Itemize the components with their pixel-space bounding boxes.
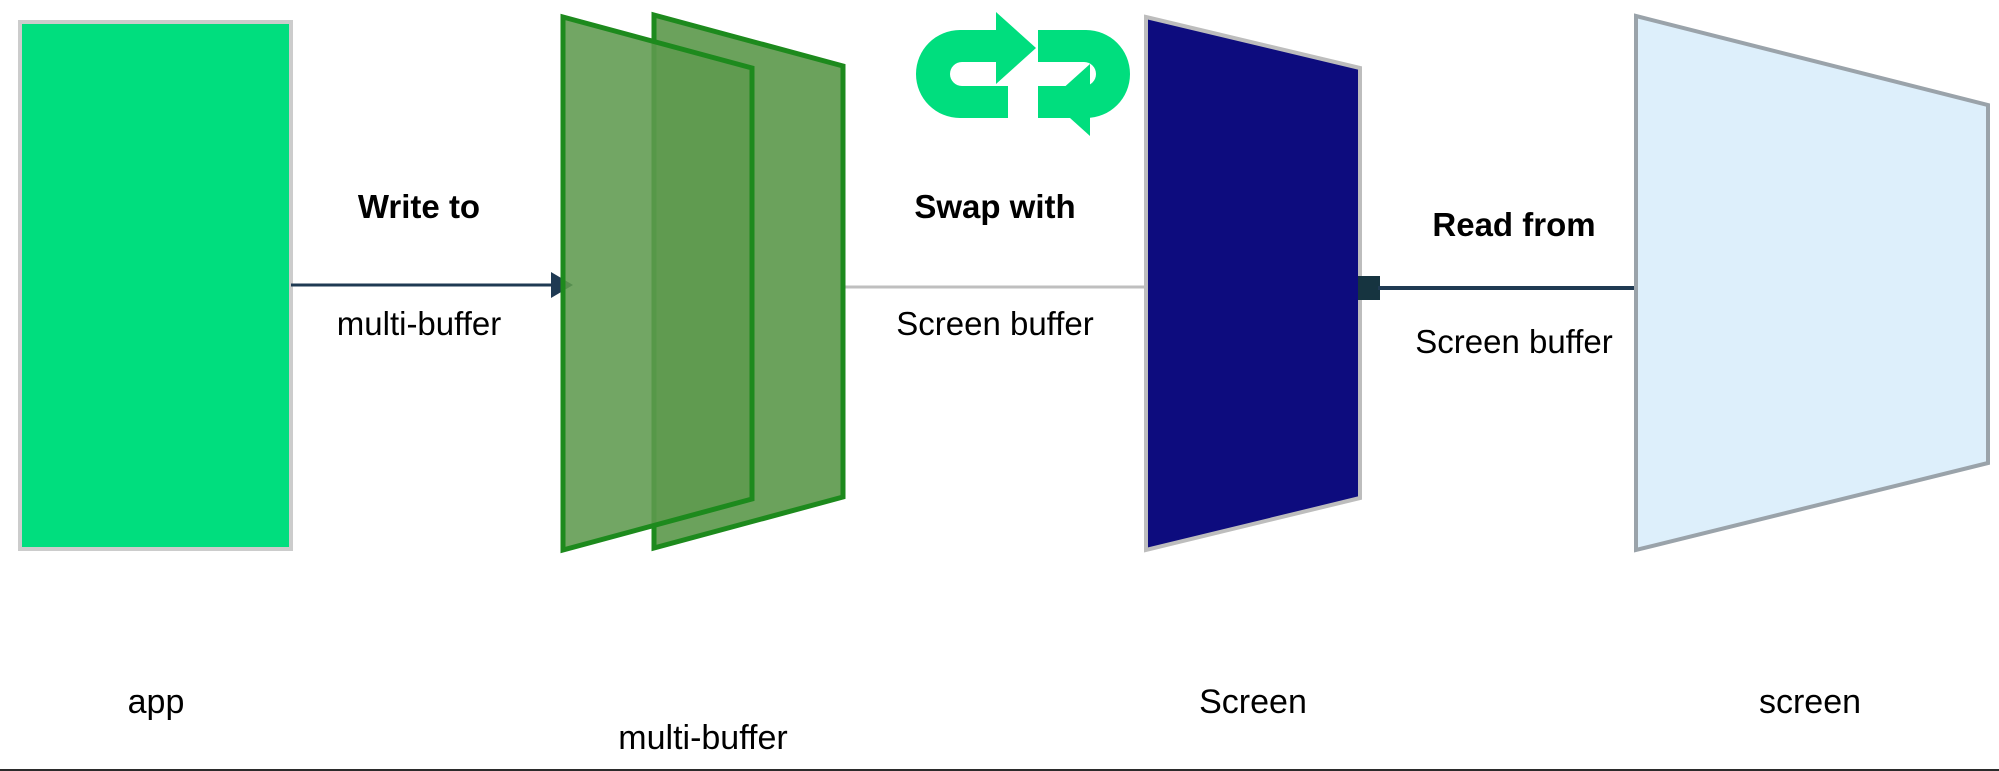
write-edge-label: Write to multi-buffer	[269, 110, 569, 422]
screen-buffer-node-label: Screen buffer (memory)	[1133, 602, 1373, 771]
multi-buffer-node-label-line1: multi-buffer	[543, 718, 863, 758]
write-edge-label-plain: multi-buffer	[269, 305, 569, 344]
screen-buffer-node-shape[interactable]	[1146, 17, 1360, 550]
app-node-label-text: app	[36, 682, 276, 722]
screen-node-shape[interactable]	[1636, 16, 1988, 550]
diagram-canvas: Write to multi-buffer Swap with Screen b…	[0, 0, 1999, 771]
swap-edge-label: Swap with Screen buffer	[845, 110, 1145, 422]
read-edge-label: Read from Screen buffer	[1354, 128, 1674, 440]
multi-buffer-node-label: multi-buffer (memory)	[543, 638, 863, 771]
read-edge-label-bold: Read from	[1354, 206, 1674, 245]
read-edge-label-plain: Screen buffer	[1354, 323, 1674, 362]
screen-buffer-node-label-line1: Screen	[1133, 682, 1373, 722]
app-node-shape[interactable]	[20, 22, 291, 549]
write-edge-label-bold: Write to	[269, 188, 569, 227]
screen-node-label: screen	[1690, 602, 1930, 771]
app-node-label: app	[36, 602, 276, 771]
multi-buffer-front-plane[interactable]	[563, 17, 752, 550]
swap-edge-label-plain: Screen buffer	[845, 305, 1145, 344]
swap-edge-label-bold: Swap with	[845, 188, 1145, 227]
screen-node-label-text: screen	[1690, 682, 1930, 722]
